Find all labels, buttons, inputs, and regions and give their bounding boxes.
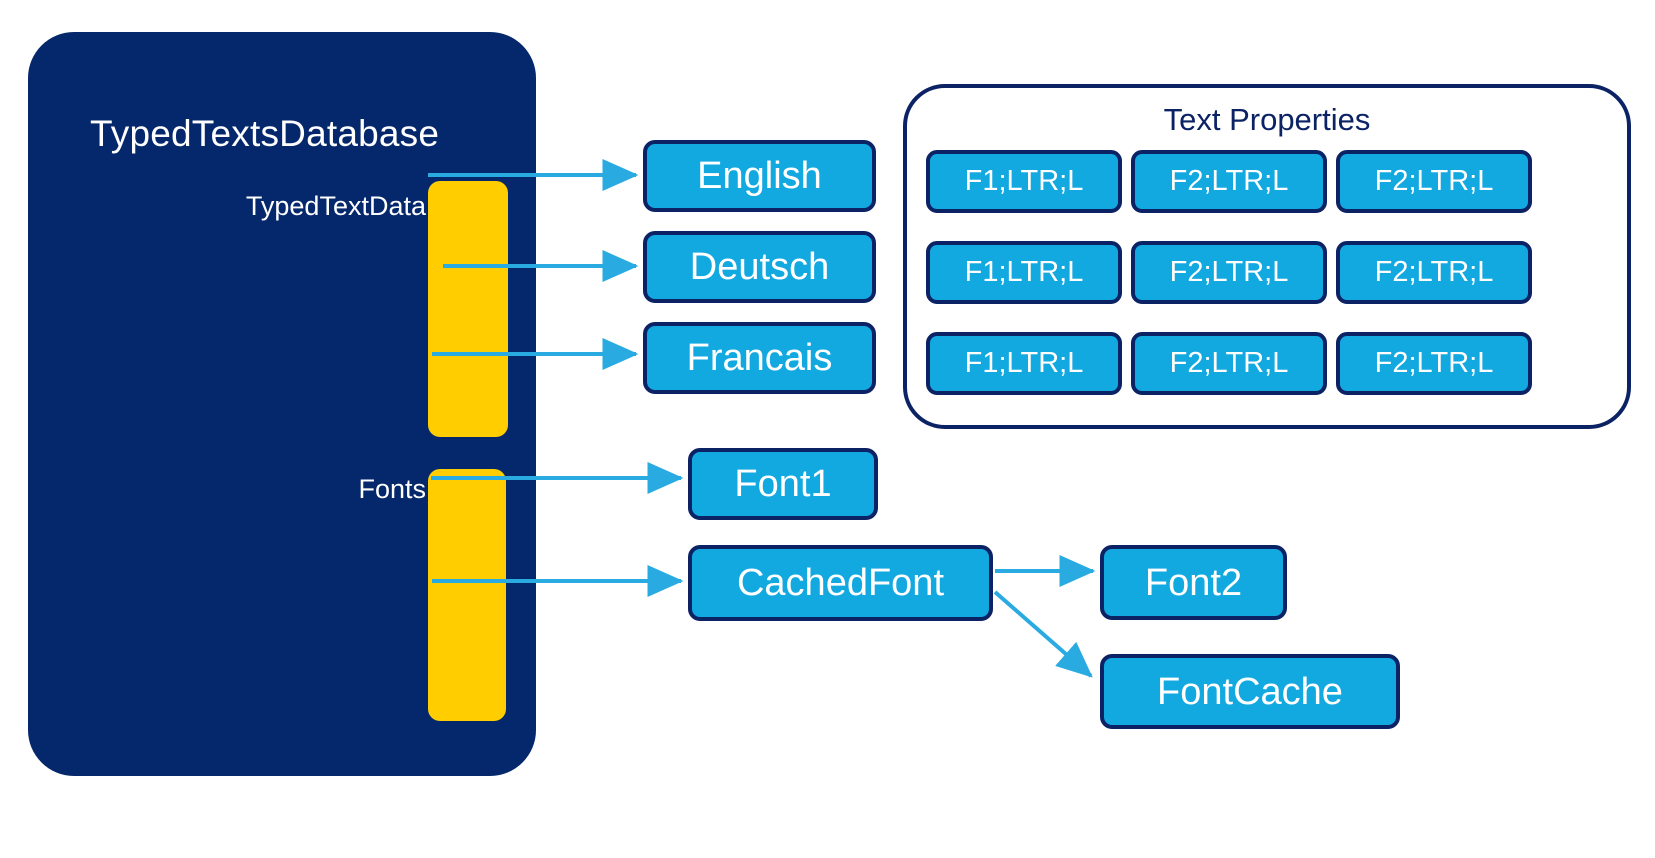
field-label-typedtextdata: TypedTextData [68, 190, 426, 222]
text-property-cell[interactable]: F1;LTR;L [926, 241, 1122, 304]
text-property-cell[interactable]: F1;LTR;L [926, 332, 1122, 395]
font-node-fontcache[interactable]: FontCache [1100, 654, 1400, 729]
text-property-cell[interactable]: F2;LTR;L [1336, 332, 1532, 395]
typedtextsdatabase-panel: TypedTextsDatabase TypedTextData Fonts [28, 32, 536, 776]
typedtextdata-list-bar [428, 181, 508, 437]
font-node-cachedfont[interactable]: CachedFont [688, 545, 993, 621]
text-properties-panel: Text Properties F1;LTR;L F2;LTR;L F2;LTR… [903, 84, 1631, 429]
language-node-deutsch[interactable]: Deutsch [643, 231, 876, 303]
font-node-font1[interactable]: Font1 [688, 448, 878, 520]
text-property-cell[interactable]: F2;LTR;L [1131, 150, 1327, 213]
text-property-cell[interactable]: F2;LTR;L [1336, 241, 1532, 304]
diagram-canvas: TypedTextsDatabase TypedTextData Fonts E… [0, 0, 1655, 858]
fonts-list-bar [428, 469, 506, 721]
text-properties-title: Text Properties [907, 102, 1627, 138]
text-property-cell[interactable]: F1;LTR;L [926, 150, 1122, 213]
language-node-francais[interactable]: Francais [643, 322, 876, 394]
text-property-cell[interactable]: F2;LTR;L [1131, 332, 1327, 395]
text-property-cell[interactable]: F2;LTR;L [1131, 241, 1327, 304]
database-title: TypedTextsDatabase [90, 112, 490, 156]
field-label-fonts: Fonts [68, 473, 426, 505]
text-property-cell[interactable]: F2;LTR;L [1336, 150, 1532, 213]
language-node-english[interactable]: English [643, 140, 876, 212]
text-properties-grid: F1;LTR;L F2;LTR;L F2;LTR;L F1;LTR;L F2;L… [926, 150, 1616, 395]
arrow-cachedfont-to-fontcache [995, 592, 1091, 676]
font-node-font2[interactable]: Font2 [1100, 545, 1287, 620]
